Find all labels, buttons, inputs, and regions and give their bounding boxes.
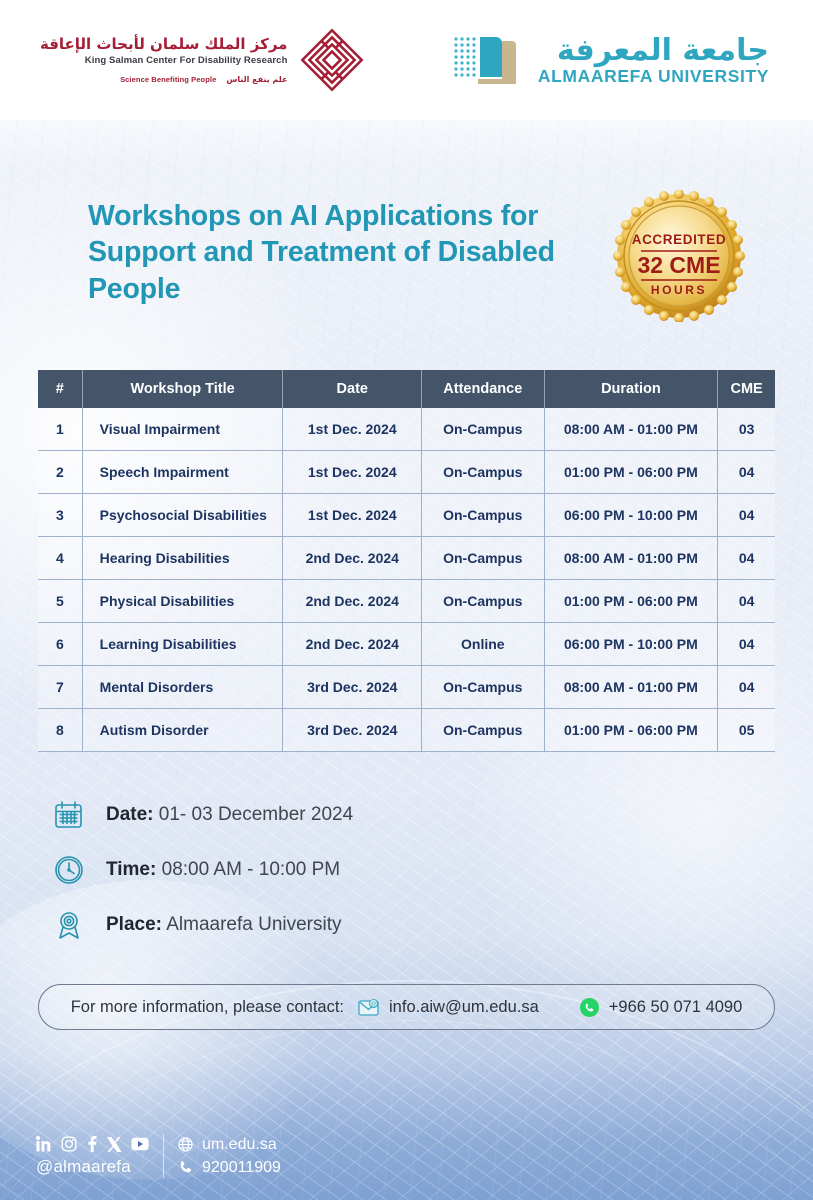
cell-date: 3rd Dec. 2024	[283, 709, 422, 752]
cell-duration: 01:00 PM - 06:00 PM	[544, 451, 718, 494]
cell-attendance: On-Campus	[422, 580, 544, 623]
cell-title: Mental Disorders	[82, 666, 283, 709]
info-date-label: Date:	[106, 804, 154, 825]
table-row: 7Mental Disorders3rd Dec. 2024On-Campus0…	[38, 666, 775, 709]
header-bar: مركز الملك سلمان لأبحاث الإعاقة King Sal…	[0, 0, 813, 120]
workshops-table-wrapper: # Workshop Title Date Attendance Duratio…	[38, 370, 775, 752]
university-logo-text: جامعة المعرفة ALMAAREFA UNIVERSITY	[538, 35, 769, 86]
cell-attendance: On-Campus	[422, 666, 544, 709]
cell-cme: 03	[718, 408, 775, 451]
ksc-tagline-english: Science Benefiting People	[120, 75, 216, 84]
cell-number: 7	[38, 666, 82, 709]
info-row-place: Place: Almaarefa University	[52, 908, 813, 942]
ksc-tagline: Science Benefiting People علم ينفع الناس	[40, 75, 287, 84]
cell-attendance: On-Campus	[422, 451, 544, 494]
info-time-value: 08:00 AM - 10:00 PM	[162, 859, 341, 880]
email-icon: @	[357, 996, 380, 1019]
column-header-number: #	[38, 370, 82, 408]
clock-icon	[52, 853, 86, 887]
cell-duration: 08:00 AM - 01:00 PM	[544, 408, 718, 451]
poster-root: مركز الملك سلمان لأبحاث الإعاقة King Sal…	[0, 0, 813, 1200]
cell-date: 1st Dec. 2024	[283, 494, 422, 537]
cell-date: 2nd Dec. 2024	[283, 537, 422, 580]
cell-cme: 04	[718, 537, 775, 580]
cell-duration: 08:00 AM - 01:00 PM	[544, 537, 718, 580]
cell-duration: 06:00 PM - 10:00 PM	[544, 494, 718, 537]
cell-cme: 04	[718, 580, 775, 623]
linkedin-icon[interactable]	[36, 1136, 52, 1152]
cell-number: 6	[38, 623, 82, 666]
event-info-list: Date: 01- 03 December 2024 Time: 08:00 A…	[52, 798, 813, 942]
footer-divider	[163, 1134, 164, 1178]
column-header-title: Workshop Title	[82, 370, 283, 408]
cell-title: Physical Disabilities	[82, 580, 283, 623]
badge-top-text: ACCREDITED	[632, 232, 727, 247]
footer-phone: 920011909	[202, 1159, 281, 1177]
location-pin-icon	[52, 908, 86, 942]
cell-number: 4	[38, 537, 82, 580]
cell-title: Hearing Disabilities	[82, 537, 283, 580]
info-time-text: Time: 08:00 AM - 10:00 PM	[106, 859, 340, 881]
facebook-icon[interactable]	[86, 1136, 98, 1152]
cell-duration: 08:00 AM - 01:00 PM	[544, 666, 718, 709]
table-body: 1Visual Impairment1st Dec. 2024On-Campus…	[38, 408, 775, 752]
phone-icon	[178, 1160, 193, 1175]
instagram-icon[interactable]	[61, 1136, 77, 1152]
info-place-text: Place: Almaarefa University	[106, 914, 342, 936]
info-row-date: Date: 01- 03 December 2024	[52, 798, 813, 832]
cell-title: Speech Impairment	[82, 451, 283, 494]
table-header-row: # Workshop Title Date Attendance Duratio…	[38, 370, 775, 408]
cell-date: 2nd Dec. 2024	[283, 623, 422, 666]
table-row: 3Psychosocial Disabilities1st Dec. 2024O…	[38, 494, 775, 537]
cell-number: 1	[38, 408, 82, 451]
cell-duration: 06:00 PM - 10:00 PM	[544, 623, 718, 666]
workshops-table: # Workshop Title Date Attendance Duratio…	[38, 370, 775, 752]
contact-phone[interactable]: +966 50 071 4090	[579, 997, 743, 1018]
contact-phone-value: +966 50 071 4090	[609, 998, 743, 1017]
footer-contact-block: um.edu.sa 920011909	[178, 1136, 281, 1177]
title-section: Workshops on AI Applications for Support…	[0, 120, 813, 322]
column-header-date: Date	[283, 370, 422, 408]
table-row: 5Physical Disabilities2nd Dec. 2024On-Ca…	[38, 580, 775, 623]
cell-attendance: On-Campus	[422, 537, 544, 580]
cell-number: 2	[38, 451, 82, 494]
cell-title: Visual Impairment	[82, 408, 283, 451]
cell-cme: 04	[718, 623, 775, 666]
accreditation-badge: ACCREDITED 32 CME HOURS	[613, 190, 745, 322]
cell-attendance: On-Campus	[422, 408, 544, 451]
footer-website: um.edu.sa	[202, 1136, 277, 1154]
ksc-tagline-arabic: علم ينفع الناس	[226, 75, 287, 84]
badge-middle-text: 32 CME	[637, 252, 720, 278]
info-time-label: Time:	[106, 859, 156, 880]
info-date-value: 01- 03 December 2024	[159, 804, 353, 825]
king-salman-center-logo: مركز الملك سلمان لأبحاث الإعاقة King Sal…	[40, 27, 363, 93]
cell-attendance: On-Campus	[422, 494, 544, 537]
cell-attendance: Online	[422, 623, 544, 666]
cell-number: 8	[38, 709, 82, 752]
university-english-name: ALMAAREFA UNIVERSITY	[538, 68, 769, 86]
cell-title: Psychosocial Disabilities	[82, 494, 283, 537]
cell-title: Autism Disorder	[82, 709, 283, 752]
table-row: 1Visual Impairment1st Dec. 2024On-Campus…	[38, 408, 775, 451]
table-row: 6Learning Disabilities2nd Dec. 2024Onlin…	[38, 623, 775, 666]
footer-bar: @almaarefa um.edu.sa 920011909	[36, 1134, 281, 1178]
youtube-icon[interactable]	[131, 1137, 149, 1151]
cell-date: 3rd Dec. 2024	[283, 666, 422, 709]
column-header-duration: Duration	[544, 370, 718, 408]
table-row: 2Speech Impairment1st Dec. 2024On-Campus…	[38, 451, 775, 494]
ksc-logo-text: مركز الملك سلمان لأبحاث الإعاقة King Sal…	[40, 36, 287, 84]
almaarefa-university-logo: جامعة المعرفة ALMAAREFA UNIVERSITY	[450, 31, 769, 89]
x-twitter-icon[interactable]	[107, 1137, 122, 1152]
cell-number: 3	[38, 494, 82, 537]
cell-date: 1st Dec. 2024	[283, 451, 422, 494]
table-header: # Workshop Title Date Attendance Duratio…	[38, 370, 775, 408]
table-row: 8Autism Disorder3rd Dec. 2024On-Campus01…	[38, 709, 775, 752]
footer-website-line[interactable]: um.edu.sa	[178, 1136, 281, 1154]
ksc-arabic-name: مركز الملك سلمان لأبحاث الإعاقة	[40, 36, 287, 53]
ksc-kufic-emblem-icon	[301, 27, 363, 93]
info-place-label: Place:	[106, 914, 162, 935]
cell-duration: 01:00 PM - 06:00 PM	[544, 709, 718, 752]
globe-icon	[178, 1137, 193, 1152]
cell-cme: 04	[718, 666, 775, 709]
info-place-value: Almaarefa University	[166, 914, 341, 935]
column-header-cme: CME	[718, 370, 775, 408]
footer-phone-line[interactable]: 920011909	[178, 1159, 281, 1177]
university-book-icon	[450, 31, 526, 89]
whatsapp-icon	[579, 997, 600, 1018]
svg-text:@: @	[370, 1002, 376, 1008]
footer-handle[interactable]: @almaarefa	[36, 1157, 149, 1177]
cell-duration: 01:00 PM - 06:00 PM	[544, 580, 718, 623]
contact-label: For more information, please contact:	[71, 998, 344, 1017]
contact-bar: For more information, please contact: @ …	[38, 984, 775, 1030]
column-header-attendance: Attendance	[422, 370, 544, 408]
cell-date: 1st Dec. 2024	[283, 408, 422, 451]
cell-number: 5	[38, 580, 82, 623]
info-row-time: Time: 08:00 AM - 10:00 PM	[52, 853, 813, 887]
university-arabic-name: جامعة المعرفة	[538, 35, 769, 67]
page-title: Workshops on AI Applications for Support…	[88, 198, 613, 307]
table-row: 4Hearing Disabilities2nd Dec. 2024On-Cam…	[38, 537, 775, 580]
contact-email-value: info.aiw@um.edu.sa	[389, 998, 539, 1017]
social-icons-row	[36, 1136, 149, 1153]
badge-bottom-text: HOURS	[651, 283, 707, 297]
info-date-text: Date: 01- 03 December 2024	[106, 804, 353, 826]
ksc-english-name: King Salman Center For Disability Resear…	[40, 54, 287, 67]
footer-social-block: @almaarefa	[36, 1136, 149, 1177]
cell-cme: 04	[718, 451, 775, 494]
cell-cme: 04	[718, 494, 775, 537]
contact-email[interactable]: @ info.aiw@um.edu.sa	[357, 996, 539, 1019]
cme-seal-icon: ACCREDITED 32 CME HOURS	[613, 190, 745, 322]
calendar-icon	[52, 798, 86, 832]
cell-cme: 05	[718, 709, 775, 752]
cell-title: Learning Disabilities	[82, 623, 283, 666]
cell-attendance: On-Campus	[422, 709, 544, 752]
cell-date: 2nd Dec. 2024	[283, 580, 422, 623]
